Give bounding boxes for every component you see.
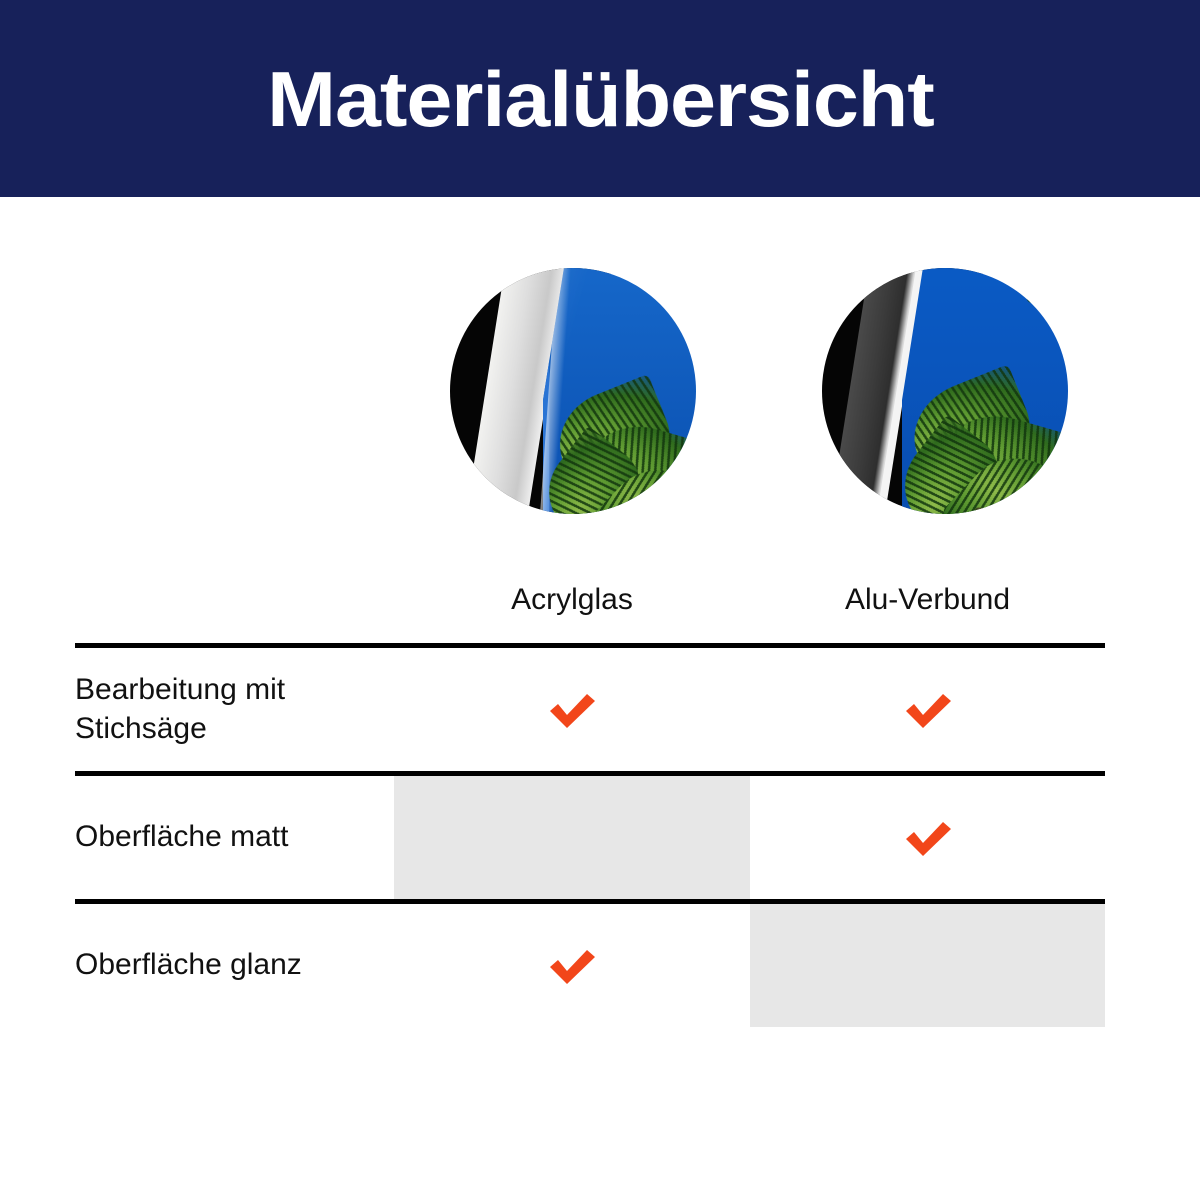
material-comparison-table-wrapper: Acrylglas Alu-Verbund Bearbeitung mit St… xyxy=(75,556,1105,1014)
check-icon xyxy=(902,817,954,859)
acrylglas-panel-art xyxy=(450,268,696,514)
cell-matt-acrylglas: empty xyxy=(394,774,750,902)
row-label-oberflaeche-matt: Oberfläche matt xyxy=(75,774,394,902)
alu-verbund-panel-art xyxy=(822,268,1068,514)
table-row: Bearbeitung mit Stichsäge check xyxy=(75,646,1105,774)
page-title: Materialübersicht xyxy=(267,60,934,138)
table-row: Oberfläche glanz check empty xyxy=(75,902,1105,1028)
alu-verbund-preview-image xyxy=(822,268,1068,514)
cell-matt-alu-verbund: check xyxy=(750,774,1105,902)
row-label-oberflaeche-glanz: Oberfläche glanz xyxy=(75,902,394,1028)
column-header-alu-verbund: Alu-Verbund xyxy=(750,556,1105,646)
header-banner: Materialübersicht xyxy=(0,0,1200,197)
cell-bearbeitung-alu-verbund: check xyxy=(750,646,1105,774)
check-icon xyxy=(902,689,954,731)
check-icon xyxy=(546,689,598,731)
acrylglas-preview-image xyxy=(450,268,696,514)
row-label-line-1: Bearbeitung mit xyxy=(75,673,285,706)
cell-glanz-alu-verbund: empty xyxy=(750,902,1105,1028)
check-icon xyxy=(546,945,598,987)
cell-bearbeitung-acrylglas: check xyxy=(394,646,750,774)
row-label-line-1: Oberfläche glanz xyxy=(75,948,302,981)
column-header-acrylglas: Acrylglas xyxy=(394,556,750,646)
preview-row xyxy=(0,268,1200,516)
row-label-line-1: Oberfläche matt xyxy=(75,820,288,853)
table-row: Oberfläche matt empty check xyxy=(75,774,1105,902)
row-label-bearbeitung-mit-stichsaege: Bearbeitung mit Stichsäge xyxy=(75,646,394,774)
material-overview-page: Materialübersicht xyxy=(0,0,1200,1200)
table-corner-cell xyxy=(75,556,394,646)
row-label-line-2: Stichsäge xyxy=(75,712,207,745)
table-header-row: Acrylglas Alu-Verbund xyxy=(75,556,1105,646)
cell-glanz-acrylglas: check xyxy=(394,902,750,1028)
material-comparison-table: Acrylglas Alu-Verbund Bearbeitung mit St… xyxy=(75,556,1105,1027)
